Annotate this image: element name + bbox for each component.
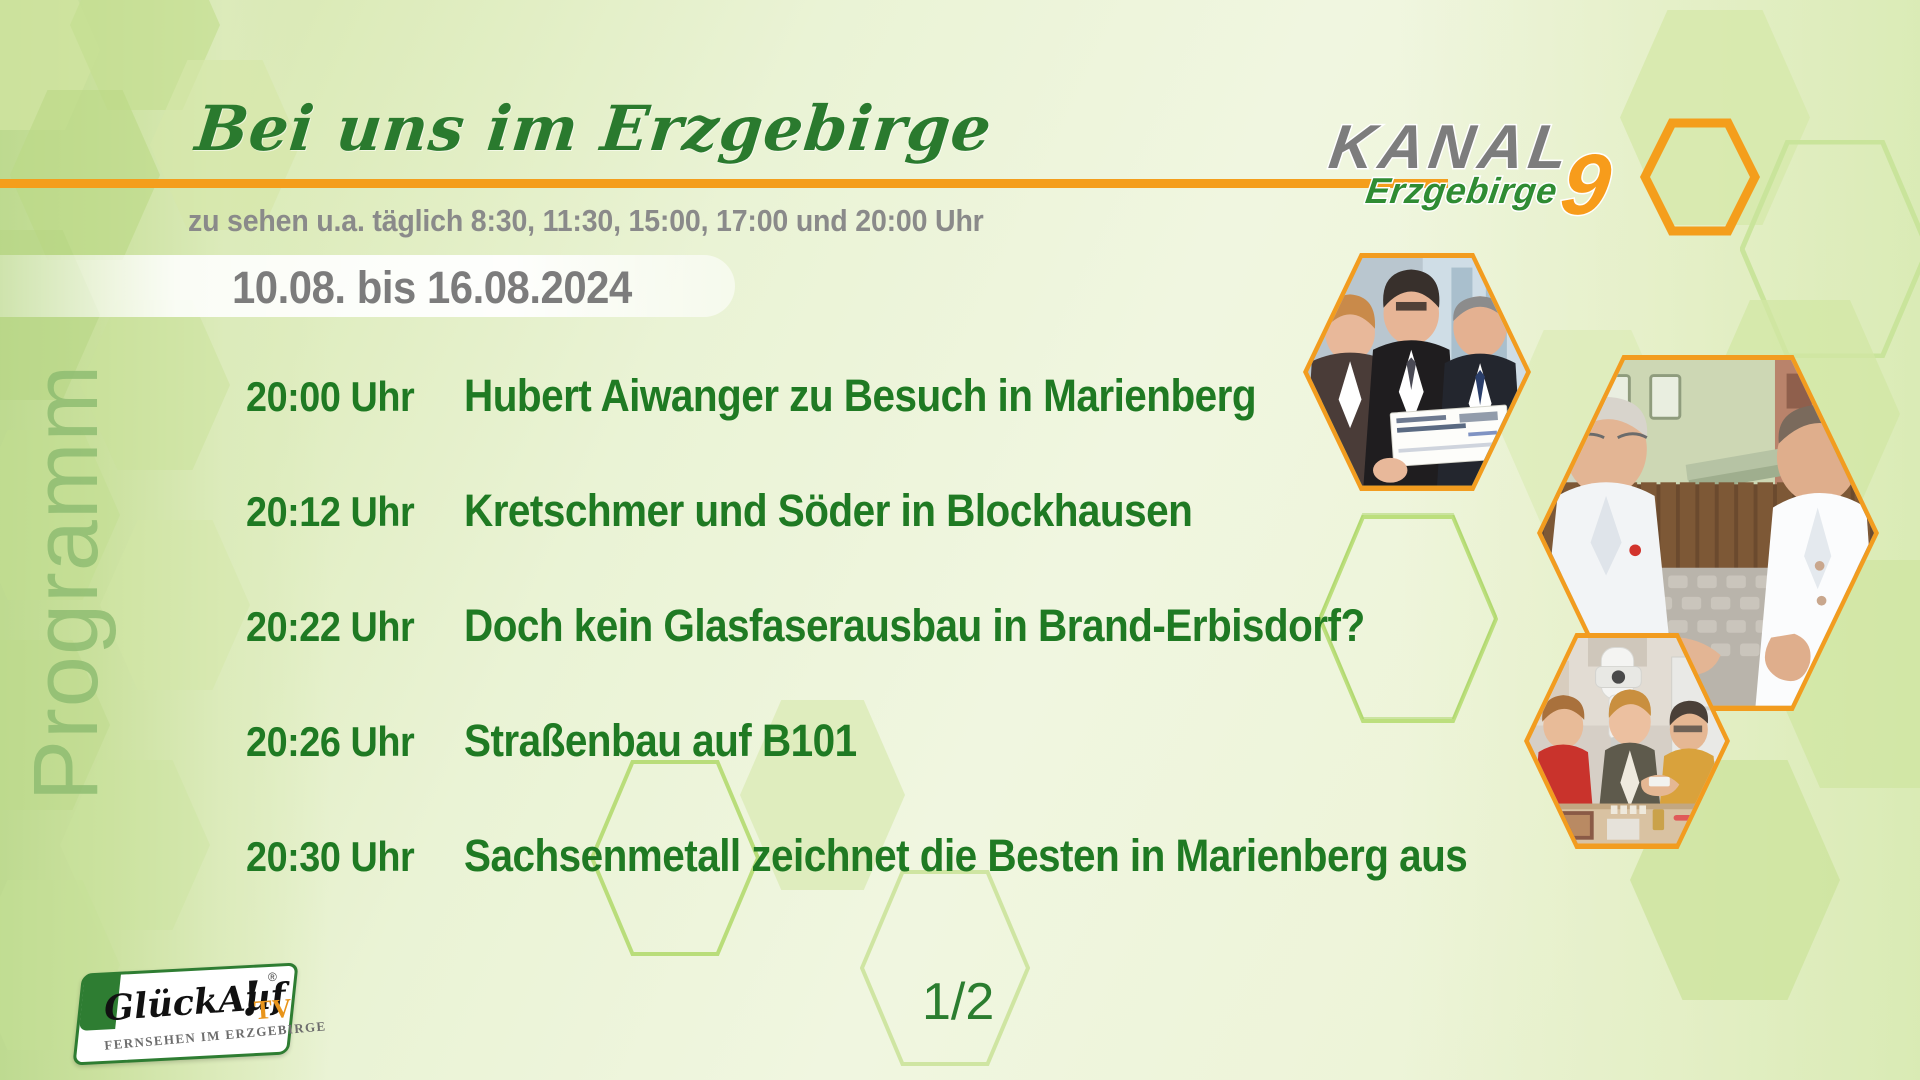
kanal9-logo: KANAL Erzgebirge 9: [1330, 112, 1630, 222]
program-title: Doch kein Glasfaserausbau in Brand-Erbis…: [464, 600, 1365, 652]
program-row: 20:26 Uhr Straßenbau auf B101: [246, 715, 1366, 830]
program-time: 20:26 Uhr: [246, 718, 442, 766]
program-time: 20:30 Uhr: [246, 833, 442, 881]
program-thumbnail-hexagon: [1303, 253, 1531, 491]
program-thumbnail-hexagon: [1524, 633, 1730, 849]
broadcast-slate: Bei uns im Erzgebirge zu sehen u.a. tägl…: [0, 0, 1920, 1080]
thumbnail-image: [1308, 258, 1526, 486]
kanal9-region-label: Erzgebirge: [1363, 170, 1560, 212]
program-time: 20:12 Uhr: [246, 488, 442, 536]
program-title: Straßenbau auf B101: [464, 715, 857, 767]
program-time: 20:22 Uhr: [246, 603, 442, 651]
date-range-label: 10.08. bis 16.08.2024: [232, 262, 632, 314]
orange-hexagon-outline-icon: [1640, 118, 1760, 236]
program-row: 20:00 Uhr Hubert Aiwanger zu Besuch in M…: [246, 370, 1366, 485]
program-row: 20:22 Uhr Doch kein Glasfaserausbau in B…: [246, 600, 1366, 715]
broadcast-times-subtitle: zu sehen u.a. täglich 8:30, 11:30, 15:00…: [188, 203, 984, 239]
page-title: Bei uns im Erzgebirge: [192, 92, 995, 165]
section-label-programm: Programm: [14, 364, 119, 801]
logo-registered-mark: ®: [268, 970, 277, 984]
program-time: 20:00 Uhr: [246, 373, 442, 421]
program-title: Kretschmer und Söder in Blockhausen: [464, 485, 1192, 537]
program-title: Hubert Aiwanger zu Besuch in Marienberg: [464, 370, 1256, 422]
page-indicator: 1/2: [922, 972, 994, 1032]
program-row: 20:12 Uhr Kretschmer und Söder in Blockh…: [246, 485, 1366, 600]
glueckauf-tv-logo: GlückAuf ! TV ® FERNSEHEN IM ERZGEBIRGE: [78, 968, 293, 1060]
program-row: 20:30 Uhr Sachsenmetall zeichnet die Bes…: [246, 830, 1366, 945]
program-list: 20:00 Uhr Hubert Aiwanger zu Besuch in M…: [246, 370, 1366, 945]
program-title: Sachsenmetall zeichnet die Besten in Mar…: [464, 830, 1467, 882]
header-divider-rule: [0, 179, 1448, 188]
